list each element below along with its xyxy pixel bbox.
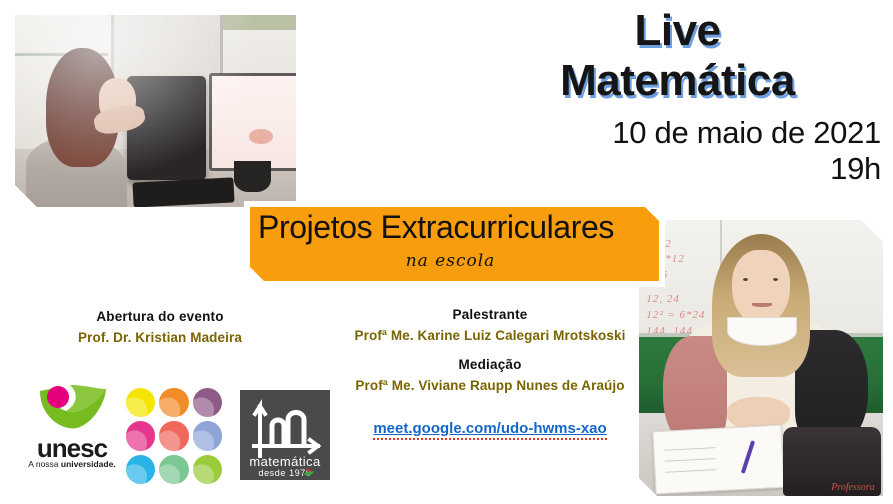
matematica-logo: matemática desde 1970 — [240, 390, 330, 480]
headline-block: Live Matemática 10 de maio de 2021 19h — [470, 6, 885, 187]
credits-speakers: Palestrante Profª Me. Karine Luiz Calega… — [345, 305, 635, 397]
color-dot — [159, 455, 188, 484]
unesc-tagline-bold: universidade. — [61, 459, 116, 469]
teacher-face — [732, 250, 791, 325]
computer-lab-photo-image — [15, 15, 296, 207]
color-dot — [193, 455, 222, 484]
program-banner: Projetos Extracurriculares na escola — [250, 207, 659, 281]
color-dot — [159, 388, 188, 417]
google-meet-link-text[interactable]: meet.google.com/udo-hwms-xao — [373, 420, 606, 440]
program-banner-subtitle: na escola — [250, 251, 651, 271]
teacher-smile — [752, 303, 772, 307]
teacher-desk-photo-image: , 12 3*12 36 12, 24 12² = 6*24 144, 144 — [639, 220, 883, 496]
math-axes-icon — [248, 396, 322, 458]
color-dot — [126, 455, 155, 484]
lab-scene — [15, 15, 296, 207]
opening-role-label: Abertura do evento — [30, 307, 290, 328]
speaker-person-name: Profª Me. Karine Luiz Calegari Mrotskosk… — [345, 326, 635, 347]
google-meet-link[interactable]: meet.google.com/udo-hwms-xao — [345, 420, 635, 437]
classroom-scene: , 12 3*12 36 12, 24 12² = 6*24 144, 144 — [639, 220, 883, 496]
notebook-line — [665, 458, 716, 462]
title-line-live: Live — [470, 6, 885, 56]
open-notebook — [652, 424, 784, 493]
color-dot — [159, 421, 188, 450]
matematica-wordmark: matemática — [240, 454, 330, 469]
notebook-line — [664, 447, 715, 451]
event-date: 10 de maio de 2021 — [470, 115, 885, 151]
unesc-tagline-prefix: A nossa — [28, 459, 61, 469]
program-banner-frame: Projetos Extracurriculares na escola — [244, 201, 665, 287]
credits-spacer — [345, 347, 635, 355]
color-dot — [126, 421, 155, 450]
unesc-tagline: A nossa universidade. — [22, 459, 122, 469]
color-dot — [126, 388, 155, 417]
teacher-eye-left — [743, 278, 748, 281]
mediation-role-label: Mediação — [345, 355, 635, 376]
unesc-logo: unesc A nossa universidade. — [22, 383, 122, 478]
lab-photo-haze — [15, 15, 296, 207]
notebook-line — [665, 469, 716, 473]
color-dots-logo — [126, 388, 222, 484]
opening-person-name: Prof. Dr. Kristian Madeira — [30, 328, 290, 349]
pencil-case-label: Professora — [831, 482, 875, 493]
speaker-role-label: Palestrante — [345, 305, 635, 326]
matematica-since-label: desde 1970 — [240, 468, 330, 478]
mediation-person-name: Profª Me. Viviane Raupp Nunes de Araújo — [345, 376, 635, 397]
program-banner-title: Projetos Extracurriculares — [258, 209, 655, 246]
teacher-collar — [727, 317, 797, 347]
computer-lab-photo — [8, 8, 303, 214]
teacher-desk-photo: , 12 3*12 36 12, 24 12² = 6*24 144, 144 — [632, 213, 890, 503]
unesc-swoosh-icon — [36, 383, 108, 433]
event-time: 19h — [470, 151, 885, 187]
math-leaf-icon — [304, 468, 314, 478]
color-dot — [193, 388, 222, 417]
title-line-matematica: Matemática — [470, 56, 885, 106]
event-flyer: , 12 3*12 36 12, 24 12² = 6*24 144, 144 — [0, 0, 893, 504]
color-dot — [193, 421, 222, 450]
credits-opening: Abertura do evento Prof. Dr. Kristian Ma… — [30, 307, 290, 349]
pencil-case: Professora — [783, 427, 881, 496]
